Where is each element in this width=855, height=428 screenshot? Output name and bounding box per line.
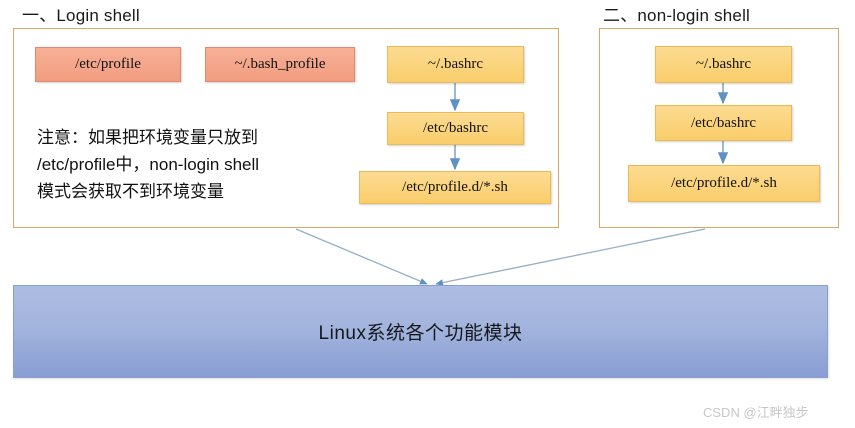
file-box-bash-profile[interactable]: ~/.bash_profile bbox=[205, 47, 355, 82]
linux-modules-bar: Linux系统各个功能模块 bbox=[13, 285, 828, 378]
heading-login-shell: 一、Login shell bbox=[22, 1, 140, 26]
note-line-2: /etc/profile中，non-login shell bbox=[37, 151, 347, 178]
file-box-login-profile-d[interactable]: /etc/profile.d/*.sh bbox=[359, 171, 551, 204]
file-box-nonlogin-bashrc[interactable]: ~/.bashrc bbox=[655, 46, 792, 83]
heading-non-login-shell: 二、non-login shell bbox=[603, 1, 750, 26]
note-text-block: 注意：如果把环境变量只放到 /etc/profile中，non-login sh… bbox=[37, 124, 347, 205]
note-line-1: 注意：如果把环境变量只放到 bbox=[37, 124, 347, 151]
file-box-etc-profile[interactable]: /etc/profile bbox=[35, 47, 181, 82]
file-box-login-bashrc[interactable]: ~/.bashrc bbox=[387, 46, 524, 83]
file-box-login-etc-bashrc[interactable]: /etc/bashrc bbox=[387, 112, 524, 145]
csdn-watermark: CSDN @江畔独步 bbox=[703, 402, 809, 421]
file-box-nonlogin-etc-bashrc[interactable]: /etc/bashrc bbox=[655, 105, 792, 141]
file-box-nonlogin-profile-d[interactable]: /etc/profile.d/*.sh bbox=[628, 165, 820, 202]
linux-modules-label: Linux系统各个功能模块 bbox=[319, 318, 523, 345]
note-line-3: 模式会获取不到环境变量 bbox=[37, 178, 347, 205]
diagram-canvas: 一、Login shell 二、non-login shell /etc/pro… bbox=[0, 0, 855, 428]
